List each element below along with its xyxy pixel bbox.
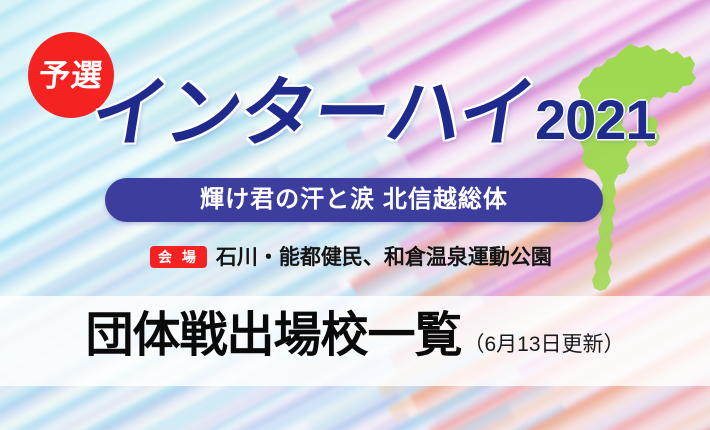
bottom-headline-update-note: （6月13日更新）: [463, 334, 624, 355]
bottom-headline: 団体戦出場校一覧 （6月13日更新）: [0, 312, 710, 360]
event-logo-title: インターハイ: [86, 76, 539, 152]
venue-row: 会 場 石川・能都健民、和倉温泉運動公園: [150, 246, 552, 268]
event-logo: インターハイ 2021: [92, 76, 656, 152]
venue-name: 石川・能都健民、和倉温泉運動公園: [216, 247, 552, 268]
interhigh-2021-banner: 予選 インターハイ 2021 輝け君の汗と涙 北信越総体 会 場 石川・能都健民…: [0, 0, 710, 430]
event-logo-year: 2021: [535, 92, 656, 148]
venue-badge-label: 会 場: [150, 246, 207, 268]
bottom-headline-title: 団体戦出場校一覧: [85, 312, 461, 360]
slogan-pill: 輝け君の汗と涙 北信越総体: [105, 178, 603, 222]
slogan-text: 輝け君の汗と涙 北信越総体: [200, 188, 508, 212]
